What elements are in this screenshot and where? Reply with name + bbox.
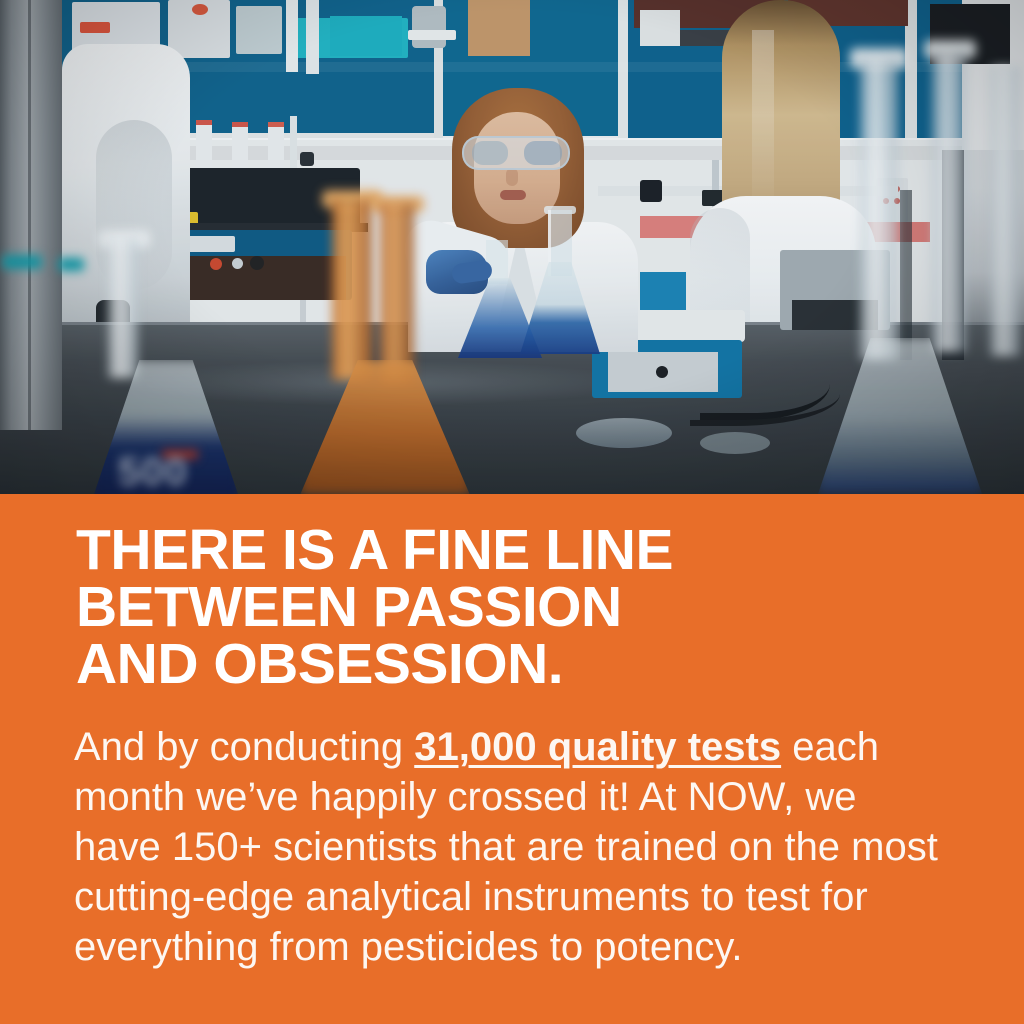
body-copy: And by conducting 31,000 quality tests e… (74, 722, 954, 972)
photo-vignette (0, 0, 1024, 494)
stat-quality-tests: 31,000 quality tests (414, 725, 781, 769)
promo-canvas: 500 THERE IS A FINE LINE BETWEEN PASSION… (0, 0, 1024, 1024)
body-lead: And by conducting (74, 725, 414, 769)
orange-message-panel: THERE IS A FINE LINE BETWEEN PASSION AND… (0, 494, 1024, 1024)
lab-photo: 500 (0, 0, 1024, 494)
headline: THERE IS A FINE LINE BETWEEN PASSION AND… (76, 522, 976, 693)
